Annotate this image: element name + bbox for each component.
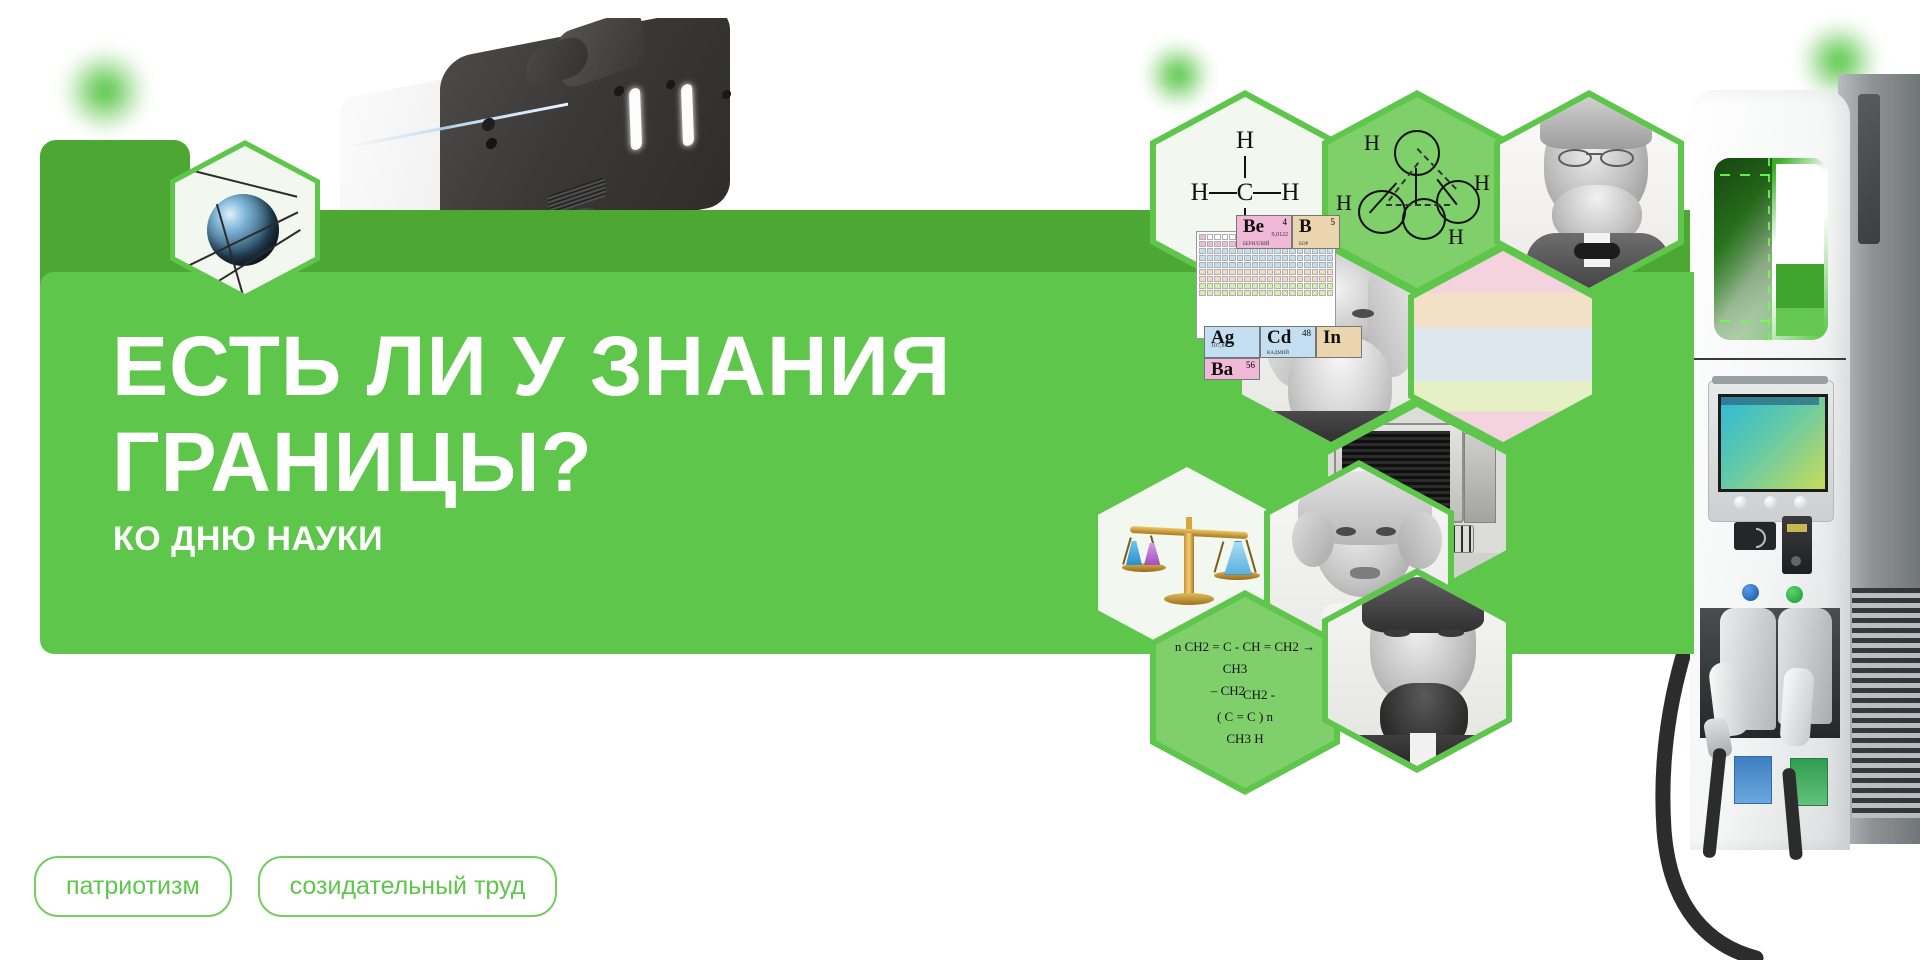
periodic-cell xyxy=(1222,262,1229,268)
periodic-cell xyxy=(1229,283,1236,289)
periodic-cell xyxy=(1259,276,1266,282)
periodic-cell xyxy=(1274,276,1281,282)
element-name-cd: КАДМИЙ xyxy=(1267,351,1289,356)
periodic-cell xyxy=(1267,276,1274,282)
periodic-cell xyxy=(1259,269,1266,275)
periodic-cell xyxy=(1199,269,1206,275)
element-card-ag: Ag 107,87 xyxy=(1204,326,1260,358)
periodic-cell xyxy=(1289,255,1296,261)
element-card-b: B 5 БОР xyxy=(1292,215,1340,249)
periodic-cell xyxy=(1267,283,1274,289)
methane-h-right: H xyxy=(1281,183,1299,203)
ball-label-h-2: H xyxy=(1336,190,1352,216)
periodic-cell xyxy=(1327,283,1334,289)
periodic-cell xyxy=(1267,269,1274,275)
periodic-cell xyxy=(1207,283,1214,289)
periodic-cell xyxy=(1207,255,1214,261)
periodic-cell xyxy=(1252,283,1259,289)
periodic-cell xyxy=(1297,276,1304,282)
periodic-cell xyxy=(1304,276,1311,282)
periodic-cell xyxy=(1207,262,1214,268)
tag-list: патриотизм созидательный труд xyxy=(34,856,557,917)
periodic-cell xyxy=(1297,283,1304,289)
periodic-cell xyxy=(1244,255,1251,261)
periodic-cell xyxy=(1282,262,1289,268)
periodic-cell xyxy=(1237,290,1244,296)
periodic-cell xyxy=(1319,262,1326,268)
periodic-cell xyxy=(1222,248,1229,254)
ball-label-h-1: H xyxy=(1364,130,1380,156)
periodic-cell xyxy=(1207,241,1214,247)
element-number-ba: 56 xyxy=(1246,360,1255,370)
element-symbol-in: In xyxy=(1317,327,1361,349)
periodic-cell xyxy=(1237,262,1244,268)
periodic-cell xyxy=(1222,283,1229,289)
periodic-cell xyxy=(1259,262,1266,268)
periodic-cell xyxy=(1304,290,1311,296)
periodic-cell xyxy=(1327,255,1334,261)
periodic-cell xyxy=(1289,276,1296,282)
periodic-cell xyxy=(1282,255,1289,261)
periodic-cell xyxy=(1289,269,1296,275)
periodic-cell xyxy=(1319,255,1326,261)
periodic-cell xyxy=(1319,269,1326,275)
periodic-cell xyxy=(1214,255,1221,261)
periodic-cell xyxy=(1207,290,1214,296)
periodic-cell xyxy=(1207,276,1214,282)
periodic-cell xyxy=(1229,241,1236,247)
charging-connector-chademo xyxy=(1779,667,1814,747)
periodic-cell xyxy=(1312,283,1319,289)
element-number-b: 5 xyxy=(1331,217,1336,227)
periodic-cell xyxy=(1274,283,1281,289)
periodic-cell xyxy=(1319,276,1326,282)
element-name-be: БЕРИЛЛИЙ xyxy=(1243,242,1269,247)
element-card-be: Be 4 9,0122 БЕРИЛЛИЙ xyxy=(1236,215,1292,249)
periodic-cell xyxy=(1214,269,1221,275)
periodic-cell xyxy=(1297,255,1304,261)
bokeh-dot-1 xyxy=(62,48,148,134)
banner-root: ЕСТЬ ЛИ У ЗНАНИЯ ГРАНИЦЫ? КО ДНЮ НАУКИ п… xyxy=(0,0,1920,960)
periodic-cell xyxy=(1327,269,1334,275)
element-card-cd: Cd 48 КАДМИЙ xyxy=(1260,326,1316,358)
periodic-cell xyxy=(1274,255,1281,261)
element-card-in: In xyxy=(1316,326,1362,358)
element-number-be: 4 xyxy=(1283,217,1288,227)
headline-line-2: ГРАНИЦЫ? xyxy=(112,414,1072,510)
periodic-cell xyxy=(1237,276,1244,282)
ball-label-h-4: H xyxy=(1448,224,1464,250)
periodic-cell xyxy=(1207,234,1214,240)
periodic-cell xyxy=(1267,255,1274,261)
periodic-cell xyxy=(1222,241,1229,247)
polymer-line-1: n CH2 = C - CH = CH2 → xyxy=(1175,636,1315,658)
element-number-cd: 48 xyxy=(1302,328,1311,338)
periodic-cell xyxy=(1252,262,1259,268)
periodic-cell xyxy=(1199,248,1206,254)
periodic-cell xyxy=(1297,269,1304,275)
element-card-ba: Ba 56 xyxy=(1204,358,1260,380)
periodic-cell xyxy=(1214,262,1221,268)
tag-patriotizm[interactable]: патриотизм xyxy=(34,856,232,917)
page-title: ЕСТЬ ЛИ У ЗНАНИЯ ГРАНИЦЫ? xyxy=(112,318,1072,510)
periodic-cell xyxy=(1282,276,1289,282)
polymer-line-5: ( C = C ) n xyxy=(1175,706,1315,728)
periodic-cell xyxy=(1214,290,1221,296)
periodic-cell xyxy=(1252,276,1259,282)
periodic-cell xyxy=(1222,276,1229,282)
periodic-cell xyxy=(1222,269,1229,275)
periodic-cell xyxy=(1199,262,1206,268)
periodic-cell xyxy=(1282,290,1289,296)
polymer-formula: n CH2 = C - CH = CH2 → CH3 – CH2 CH2 - (… xyxy=(1175,636,1315,750)
bokeh-dot-4 xyxy=(520,690,606,790)
ball-label-h-3: H xyxy=(1474,170,1490,196)
periodic-cell xyxy=(1214,241,1221,247)
periodic-cell xyxy=(1289,283,1296,289)
status-led-blue xyxy=(1742,584,1759,601)
periodic-cell xyxy=(1244,262,1251,268)
periodic-cell xyxy=(1282,269,1289,275)
headline-line-1: ЕСТЬ ЛИ У ЗНАНИЯ xyxy=(112,318,1072,414)
periodic-cell xyxy=(1244,269,1251,275)
methane-c: C xyxy=(1237,183,1254,203)
periodic-cell xyxy=(1327,262,1334,268)
methane-h-left: H xyxy=(1191,183,1209,203)
polymer-line-6: CH3 H xyxy=(1175,728,1315,750)
periodic-cell xyxy=(1244,276,1251,282)
periodic-cell xyxy=(1252,255,1259,261)
periodic-cell xyxy=(1304,255,1311,261)
element-name-b: БОР xyxy=(1299,242,1308,247)
periodic-cell xyxy=(1214,276,1221,282)
periodic-cell xyxy=(1214,234,1221,240)
periodic-cell xyxy=(1297,290,1304,296)
periodic-cell xyxy=(1229,269,1236,275)
periodic-cell xyxy=(1222,290,1229,296)
periodic-cell xyxy=(1199,241,1206,247)
green-accent-slab xyxy=(1652,272,1694,654)
periodic-cell xyxy=(1327,290,1334,296)
contactless-reader-icon xyxy=(1734,522,1776,550)
periodic-cell xyxy=(1259,290,1266,296)
periodic-cell xyxy=(1319,283,1326,289)
periodic-cell xyxy=(1229,234,1236,240)
polymer-line-2: CH3 xyxy=(1156,658,1315,680)
periodic-cell xyxy=(1274,269,1281,275)
periodic-cell xyxy=(1237,283,1244,289)
periodic-cell xyxy=(1252,290,1259,296)
periodic-cell xyxy=(1312,290,1319,296)
periodic-cell xyxy=(1259,255,1266,261)
periodic-cell xyxy=(1297,262,1304,268)
periodic-cell xyxy=(1214,283,1221,289)
periodic-cell xyxy=(1199,234,1206,240)
periodic-cell xyxy=(1229,255,1236,261)
periodic-cell xyxy=(1304,269,1311,275)
periodic-cell xyxy=(1327,276,1334,282)
periodic-cell xyxy=(1214,248,1221,254)
periodic-cell xyxy=(1252,269,1259,275)
tag-sozidatelnyy-trud[interactable]: созидательный труд xyxy=(258,856,558,917)
periodic-cell xyxy=(1222,255,1229,261)
molecule-ball-model: H H H H xyxy=(1342,128,1492,258)
periodic-cell xyxy=(1259,283,1266,289)
periodic-cell xyxy=(1312,255,1319,261)
periodic-cell xyxy=(1237,255,1244,261)
periodic-cell xyxy=(1312,276,1319,282)
periodic-cell xyxy=(1289,262,1296,268)
status-led-green xyxy=(1786,586,1803,603)
periodic-cell xyxy=(1207,248,1214,254)
element-mass-be: 9,0122 xyxy=(1272,232,1289,238)
periodic-cell xyxy=(1229,262,1236,268)
periodic-cell xyxy=(1274,262,1281,268)
periodic-cell xyxy=(1222,234,1229,240)
periodic-cell xyxy=(1199,276,1206,282)
periodic-cell xyxy=(1199,290,1206,296)
periodic-cell xyxy=(1199,255,1206,261)
periodic-cell xyxy=(1267,262,1274,268)
connector-badge-blue xyxy=(1734,756,1772,804)
periodic-cell xyxy=(1207,269,1214,275)
periodic-cell xyxy=(1199,283,1206,289)
periodic-cell xyxy=(1229,290,1236,296)
periodic-cell xyxy=(1319,290,1326,296)
periodic-cell xyxy=(1229,276,1236,282)
element-mass-ag: 107,87 xyxy=(1211,343,1228,349)
page-subtitle: КО ДНЮ НАУКИ xyxy=(113,520,383,559)
methane-h-top: H xyxy=(1236,131,1254,151)
periodic-cell xyxy=(1244,283,1251,289)
periodic-cell xyxy=(1237,269,1244,275)
periodic-cell xyxy=(1312,262,1319,268)
periodic-cell xyxy=(1312,269,1319,275)
periodic-cell xyxy=(1229,248,1236,254)
periodic-cell xyxy=(1282,283,1289,289)
ev-charging-station xyxy=(1690,28,1920,848)
periodic-cell xyxy=(1267,290,1274,296)
station-display xyxy=(1718,394,1828,492)
periodic-cell xyxy=(1289,290,1296,296)
periodic-cell xyxy=(1304,262,1311,268)
periodic-cell xyxy=(1244,290,1251,296)
periodic-cell xyxy=(1304,283,1311,289)
periodic-cell xyxy=(1274,290,1281,296)
